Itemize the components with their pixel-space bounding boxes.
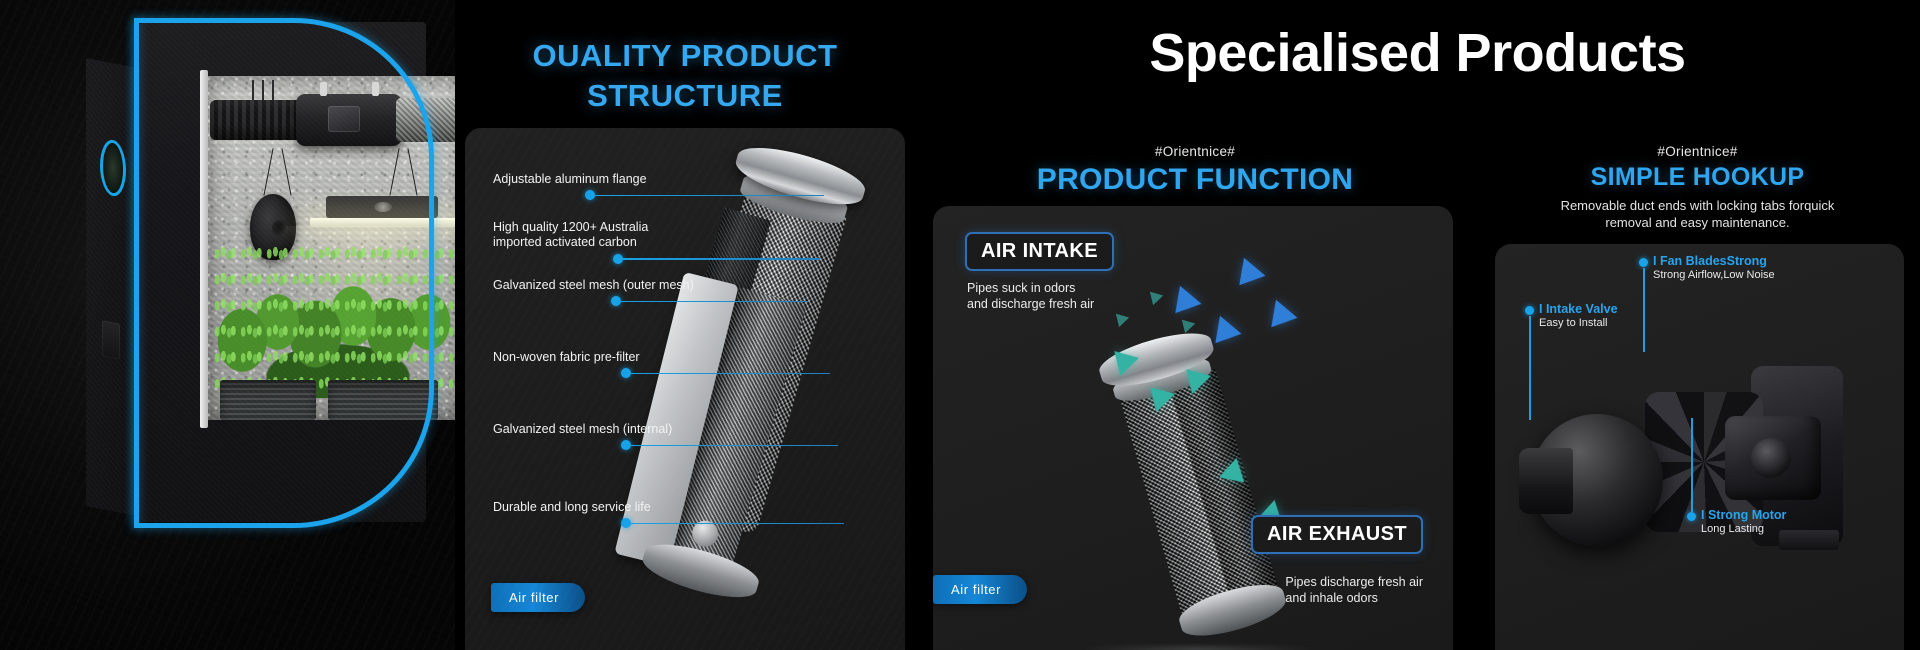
air-exhaust-arrow-small (1111, 309, 1129, 327)
hanger-rope (262, 80, 264, 104)
structure-card: Adjustable aluminum flange High quality … (465, 128, 905, 650)
filter-mesh-barrel (1119, 368, 1280, 622)
callout-dot (621, 518, 631, 528)
air-filter-badge[interactable]: Air filter (933, 575, 1027, 604)
callout-stem (1643, 268, 1645, 352)
air-intake-desc-line1: Pipes suck in odors (967, 280, 1094, 296)
pre-filter-fabric-layer (614, 272, 738, 567)
hanger-rope (272, 80, 274, 104)
callout-sub: Long Lasting (1701, 523, 1786, 535)
simple-hookup-desc-line1: Removable duct ends with locking tabs fo… (1515, 198, 1880, 215)
callout-dot (621, 440, 631, 450)
callout-line (620, 301, 808, 303)
callout-internal-mesh: Galvanized steel mesh (internal) (493, 422, 905, 452)
air-exhaust-desc: Pipes discharge fresh air and inhale odo… (1285, 574, 1423, 607)
flexible-duct (210, 100, 302, 140)
callout-pre-filter: Non-woven fabric pre-filter (493, 350, 905, 380)
tent-front-wall (140, 22, 426, 522)
inner-steel-mesh-layer (659, 287, 807, 587)
callout-stem (1691, 418, 1693, 512)
callout-intake-valve: I Intake Valve Easy to Install (1539, 302, 1618, 329)
grow-tent-illustration (86, 22, 426, 522)
tent-zipper (200, 70, 208, 428)
callout-outer-mesh: Galvanized steel mesh (outer mesh) (493, 278, 905, 308)
light-hanger-cable (389, 148, 399, 195)
inline-duct-fan (296, 94, 402, 146)
air-filter-badge[interactable]: Air filter (491, 583, 585, 612)
callout-line (630, 445, 838, 447)
callout-leader (585, 190, 903, 202)
callout-label: Adjustable aluminum flange (493, 172, 903, 187)
grow-tent-panel (0, 0, 455, 650)
simple-hookup-column: #Orientnice# SIMPLE HOOKUP Removable duc… (1475, 120, 1920, 650)
outer-steel-mesh-layer (656, 189, 847, 535)
tent-outline-left (134, 18, 139, 528)
specialised-body: #Orientnice# PRODUCT FUNCTION AIR INTAKE… (915, 120, 1920, 650)
callout-stem (1529, 316, 1531, 420)
callout-leader (621, 440, 905, 452)
callout-dot (621, 368, 631, 378)
structure-heading: OUALITY PRODUCT STRUCTURE (455, 36, 915, 115)
fan-hanger-clip (372, 82, 379, 96)
air-intake-desc: Pipes suck in odors and discharge fresh … (967, 280, 1094, 313)
aluminum-flange (737, 168, 850, 230)
air-exhaust-tag: AIR EXHAUST (1251, 515, 1423, 554)
light-hanger-cable (407, 148, 417, 195)
callout-dot (585, 190, 595, 200)
callout-label: Durable and long service life (493, 500, 905, 515)
light-hanger-cable (263, 148, 273, 195)
callout-dot (1639, 258, 1648, 267)
callout-strong-motor: I Strong Motor Long Lasting (1701, 508, 1786, 535)
callout-title: I Strong Motor (1701, 508, 1786, 522)
fan-motor (1725, 416, 1821, 500)
plants (212, 246, 455, 398)
callout-label: Galvanized steel mesh (internal) (493, 422, 905, 437)
fan-hanger-clip (320, 82, 327, 96)
clip-circulation-fan (250, 194, 296, 260)
tent-interior-view (206, 76, 455, 420)
callout-title: I Fan BladesStrong (1653, 254, 1775, 268)
product-function-title: PRODUCT FUNCTION (915, 163, 1475, 197)
callout-line (630, 523, 844, 525)
structure-heading-line2: STRUCTURE (455, 76, 915, 116)
product-function-hashtag: #Orientnice# (915, 144, 1475, 159)
air-intake-arrow (1229, 258, 1266, 294)
air-intake-desc-line2: and discharge fresh air (967, 296, 1094, 312)
hanger-rope (252, 80, 254, 104)
carbon-filter-cutaway-render (578, 128, 905, 645)
base-knob (689, 518, 721, 550)
fan-mounting-foot (1779, 530, 1839, 550)
fabric-pot (328, 380, 438, 420)
air-intake-tag: AIR INTAKE (965, 232, 1114, 271)
tent-lower-vent-icon (102, 320, 120, 359)
simple-hookup-desc: Removable duct ends with locking tabs fo… (1475, 198, 1920, 232)
air-exhaust-arrow-small (1145, 287, 1163, 305)
activated-carbon-layer (637, 207, 771, 528)
callout-aluminum-flange: Adjustable aluminum flange (493, 172, 903, 202)
light-hanger-cable (281, 148, 291, 195)
air-exhaust-desc-line2: and inhale odors (1285, 590, 1423, 606)
callout-line (622, 258, 820, 260)
fan-duct-collar (1519, 448, 1573, 514)
callout-label: Galvanized steel mesh (outer mesh) (493, 278, 905, 293)
callout-leader (611, 296, 905, 308)
simple-hookup-title: SIMPLE HOOKUP (1475, 163, 1920, 192)
callout-dot (1687, 512, 1696, 521)
simple-hookup-desc-line2: removal and easy maintenance. (1515, 215, 1880, 232)
mylar-lining (206, 76, 455, 420)
callout-dot (613, 254, 623, 264)
callout-leader (621, 368, 905, 380)
top-cap (731, 138, 869, 215)
fabric-pot (220, 380, 316, 420)
product-structure-panel: OUALITY PRODUCT STRUCTURE Adjustable alu… (455, 0, 915, 650)
product-banner: OUALITY PRODUCT STRUCTURE Adjustable alu… (0, 0, 1920, 650)
carbon-filter-duct (396, 98, 455, 142)
product-reflection (1083, 646, 1313, 650)
simple-hookup-hashtag: #Orientnice# (1475, 144, 1920, 159)
specialised-products-title: Specialised Products (915, 22, 1920, 84)
callout-activated-carbon: High quality 1200+ Australia imported ac… (493, 220, 905, 266)
callout-label-line2: imported activated carbon (493, 235, 905, 250)
callout-dot (611, 296, 621, 306)
callout-sub: Strong Airflow,Low Noise (1653, 269, 1775, 281)
callout-label: Non-woven fabric pre-filter (493, 350, 905, 365)
callout-durable-service-life: Durable and long service life (493, 500, 905, 530)
inline-duct-fan-render (1519, 340, 1849, 590)
structure-heading-line1: OUALITY PRODUCT (455, 36, 915, 76)
callout-line (630, 373, 830, 375)
specialised-products-panel: Specialised Products #Orientnice# PRODUC… (915, 0, 1920, 650)
led-grow-light-housing (326, 196, 438, 218)
simple-hookup-card: I Fan BladesStrong Strong Airflow,Low No… (1495, 244, 1904, 650)
callout-label-line1: High quality 1200+ Australia (493, 220, 905, 235)
air-exhaust-desc-line1: Pipes discharge fresh air (1285, 574, 1423, 590)
callout-leader (621, 518, 905, 530)
base-cap (638, 535, 762, 606)
product-function-column: #Orientnice# PRODUCT FUNCTION AIR INTAKE… (915, 120, 1475, 650)
callout-line (594, 195, 824, 197)
callout-sub: Easy to Install (1539, 317, 1618, 329)
callout-dot (1525, 306, 1534, 315)
callout-leader (613, 254, 905, 266)
callout-fan-blades: I Fan BladesStrong Strong Airflow,Low No… (1653, 254, 1775, 281)
product-function-card: AIR INTAKE Pipes suck in odors and disch… (933, 206, 1453, 650)
callout-title: I Intake Valve (1539, 302, 1618, 316)
